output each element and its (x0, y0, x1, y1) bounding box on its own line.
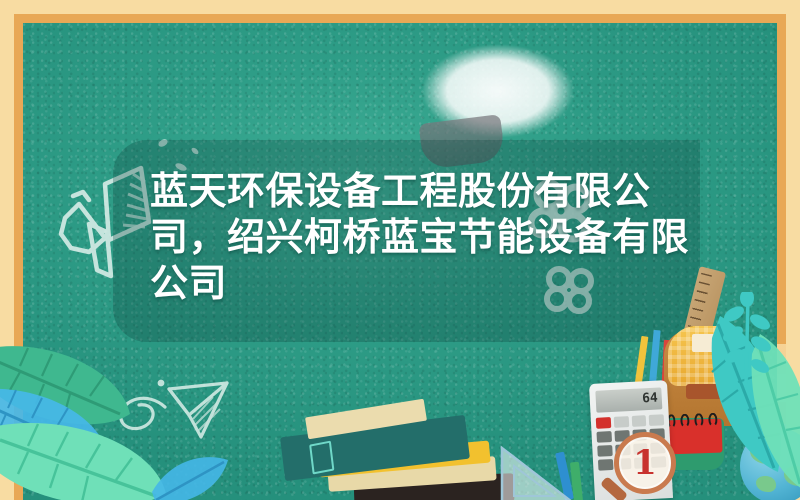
book-cover-emblem (309, 441, 334, 475)
calculator-key (649, 414, 664, 426)
book-stack (270, 424, 510, 500)
magnifier-icon: 1 (614, 432, 676, 494)
calculator-key (598, 459, 613, 471)
banner-canvas: 蓝天环保设备工程股份有限公司，绍兴柯桥蓝宝节能设备有限公司 (0, 0, 800, 500)
calculator-key (597, 445, 612, 457)
chalkboard-frame-right-inner (777, 14, 786, 344)
calculator-key (631, 415, 646, 427)
leaf-sprig-decoration (718, 292, 778, 388)
calculator-key (613, 416, 628, 428)
calculator-display: 64 (595, 387, 662, 412)
leaf-decoration (146, 448, 236, 500)
calculator-key (596, 417, 611, 429)
triangle-ruler-icon (498, 440, 594, 500)
page-title: 蓝天环保设备工程股份有限公司，绍兴柯桥蓝宝节能设备有限公司 (150, 168, 695, 306)
calculator-key (596, 431, 611, 443)
